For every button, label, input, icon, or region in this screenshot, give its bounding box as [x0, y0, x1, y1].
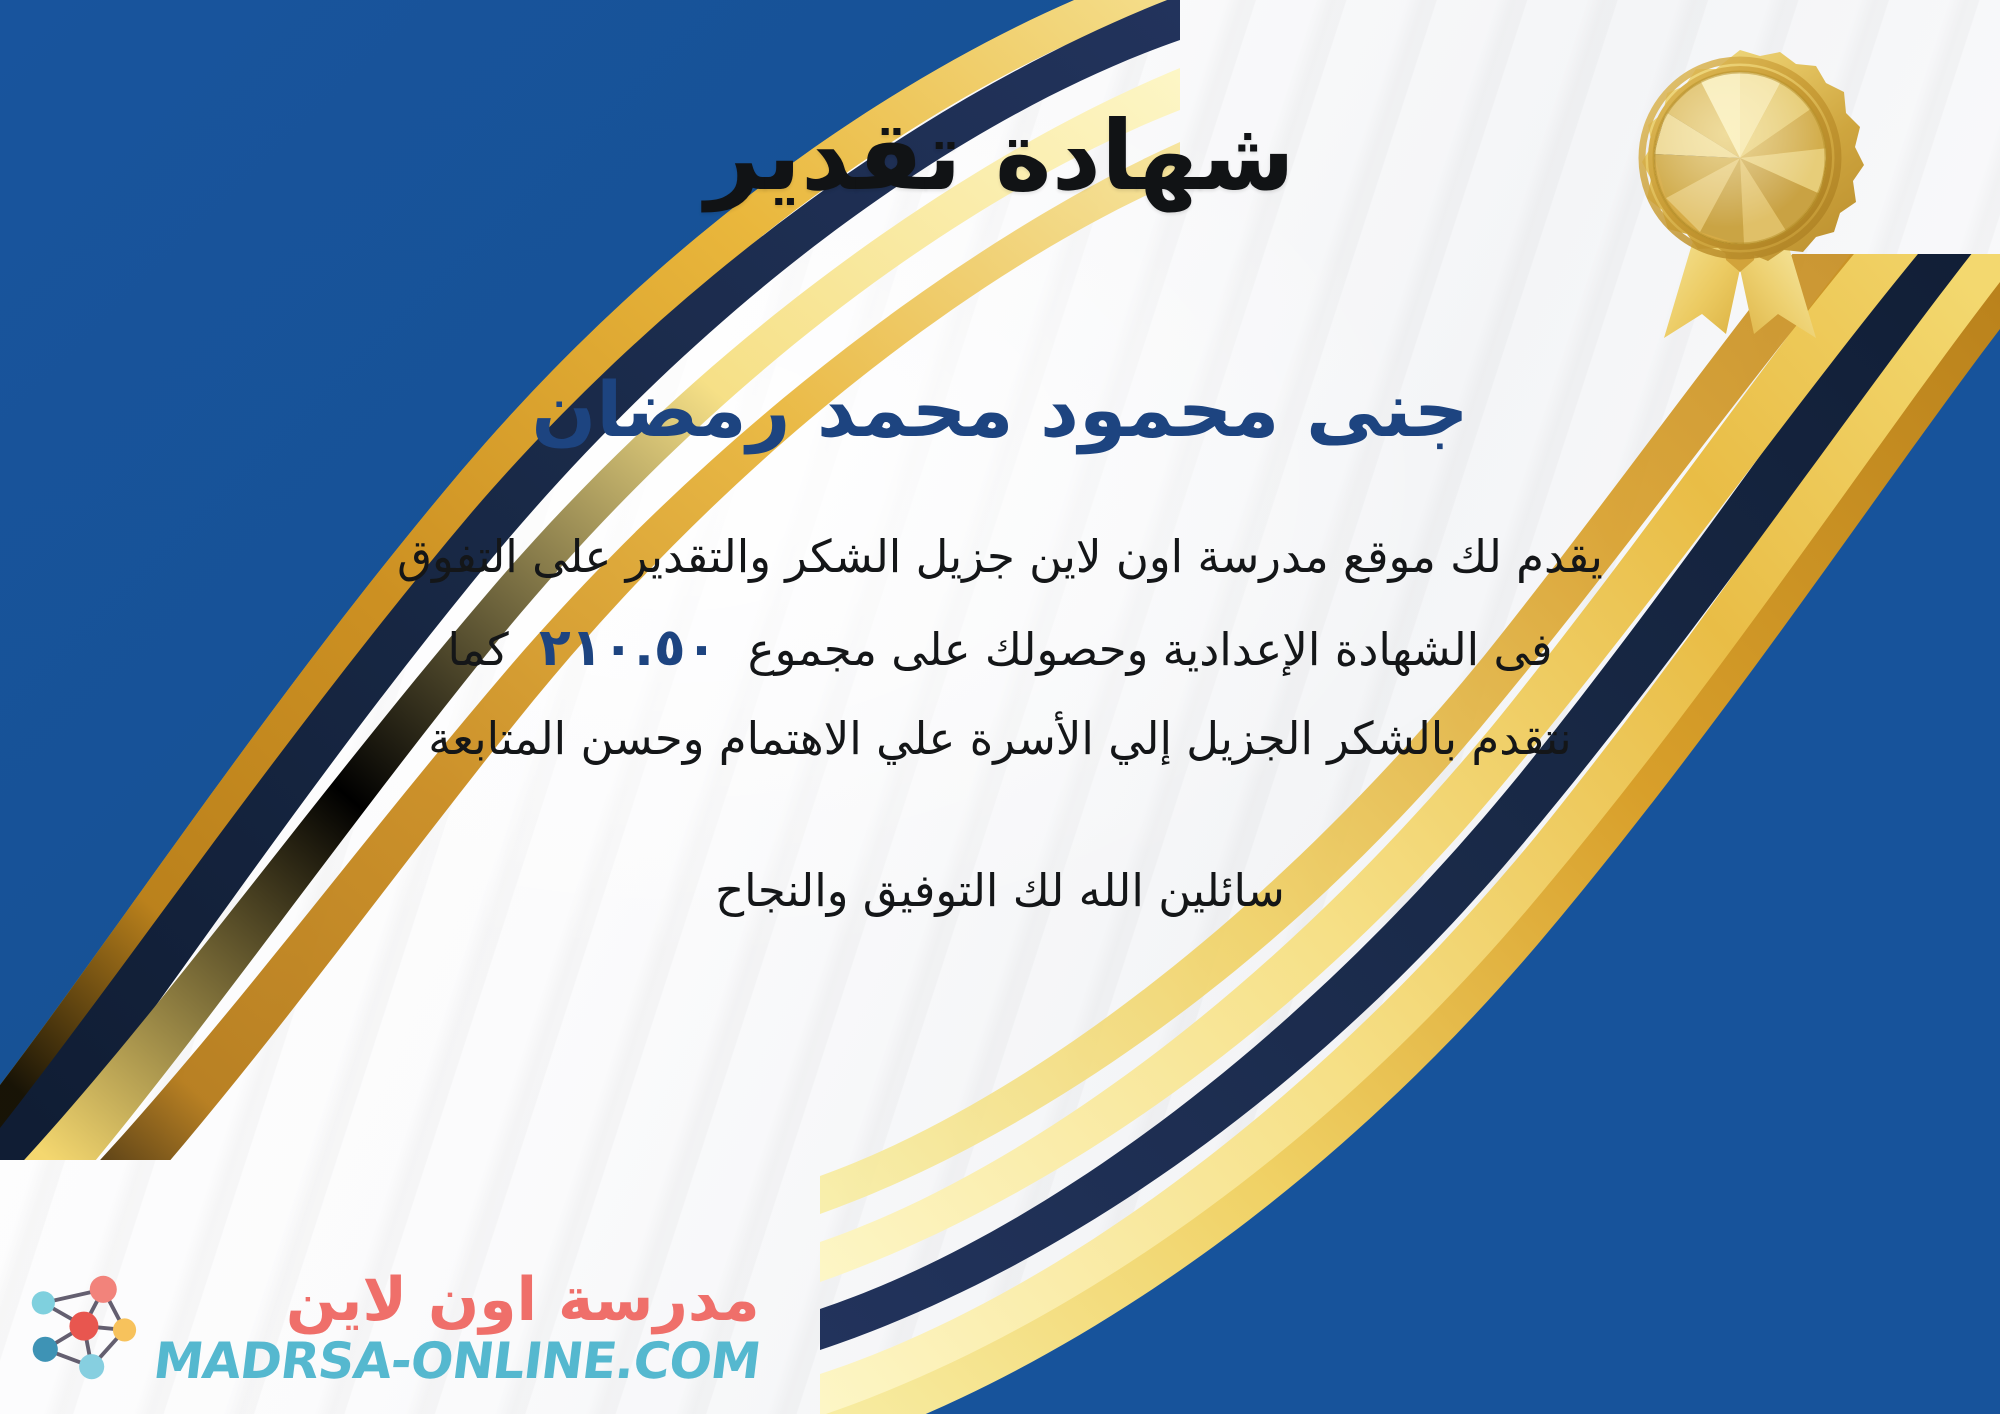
- brand-text-block: مدرسة اون لاين MADRSA-ONLINE.COM: [154, 1270, 760, 1386]
- body-line-2-suffix: كما: [447, 623, 508, 676]
- body-line-3: نتقدم بالشكر الجزيل إلي الأسرة علي الاهت…: [220, 697, 1780, 782]
- recipient-name: جنى محمود محمد رمضان: [531, 366, 1468, 453]
- body-line-1: يقدم لك موقع مدرسة اون لاين جزيل الشكر و…: [220, 515, 1780, 600]
- brand-arabic-name: مدرسة اون لاين: [286, 1270, 760, 1330]
- body-line-2-prefix: فى الشهادة الإعدادية وحصولك على مجموع: [748, 623, 1553, 676]
- page-title: شهادة تقدير: [705, 104, 1295, 210]
- score-value: ٢١٠.٥٠: [523, 600, 733, 698]
- certificate-canvas: شهادة تقدير جنى محمود محمد رمضان يقدم لك…: [0, 0, 2000, 1414]
- network-nodes-logo-icon: [24, 1270, 140, 1386]
- closing-wish: سائلين الله لك التوفيق والنجاح: [715, 850, 1285, 931]
- body-line-2: فى الشهادة الإعدادية وحصولك على مجموع ٢١…: [220, 600, 1780, 698]
- brand-logo: مدرسة اون لاين MADRSA-ONLINE.COM: [24, 1270, 760, 1386]
- brand-website: MADRSA-ONLINE.COM: [151, 1336, 763, 1386]
- certificate-body: يقدم لك موقع مدرسة اون لاين جزيل الشكر و…: [220, 515, 1780, 782]
- gold-award-medal-seal: [1590, 28, 1890, 348]
